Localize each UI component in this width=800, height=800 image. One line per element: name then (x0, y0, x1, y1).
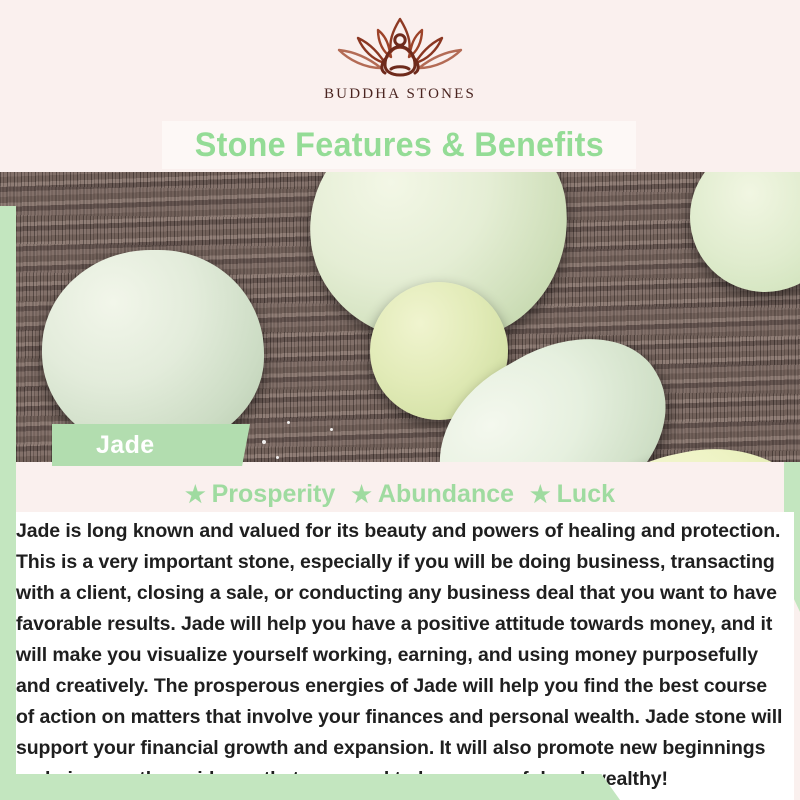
decor-band-left (0, 206, 16, 800)
page-title: Stone Features & Benefits (194, 126, 603, 165)
lotus-meditation-icon (325, 16, 475, 82)
benefit-item: ★ Abundance (351, 480, 514, 509)
benefit-item: ★ Luck (530, 480, 615, 509)
star-icon: ★ (351, 483, 372, 506)
stone-info-card: BUDDHA STONES Stone Features & Benefits … (0, 0, 800, 800)
stone-name-tag: Jade (52, 424, 250, 466)
star-icon: ★ (185, 483, 206, 506)
benefit-item: ★ Prosperity (185, 480, 335, 509)
stone-name: Jade (96, 431, 155, 460)
decor-band-bottom (0, 774, 620, 800)
benefit-label: Luck (557, 480, 615, 509)
benefit-label: Abundance (378, 480, 514, 509)
sparkle-icon (262, 440, 266, 444)
sparkle-icon (330, 428, 333, 431)
stone-photo (0, 172, 800, 462)
benefits-list: ★ Prosperity ★ Abundance ★ Luck (16, 462, 784, 512)
sparkle-icon (287, 421, 290, 424)
star-icon: ★ (530, 483, 551, 506)
description-text: Jade is long known and valued for its be… (16, 516, 788, 795)
benefit-label: Prosperity (212, 480, 336, 509)
jade-stone (42, 250, 264, 452)
brand-logo: BUDDHA STONES (0, 16, 800, 103)
title-banner: Stone Features & Benefits (162, 121, 636, 169)
sparkle-icon (276, 456, 279, 459)
stone-details: ★ Prosperity ★ Abundance ★ Luck Jade is … (16, 462, 784, 774)
description-box: Jade is long known and valued for its be… (10, 512, 794, 800)
brand-name: BUDDHA STONES (324, 86, 476, 103)
